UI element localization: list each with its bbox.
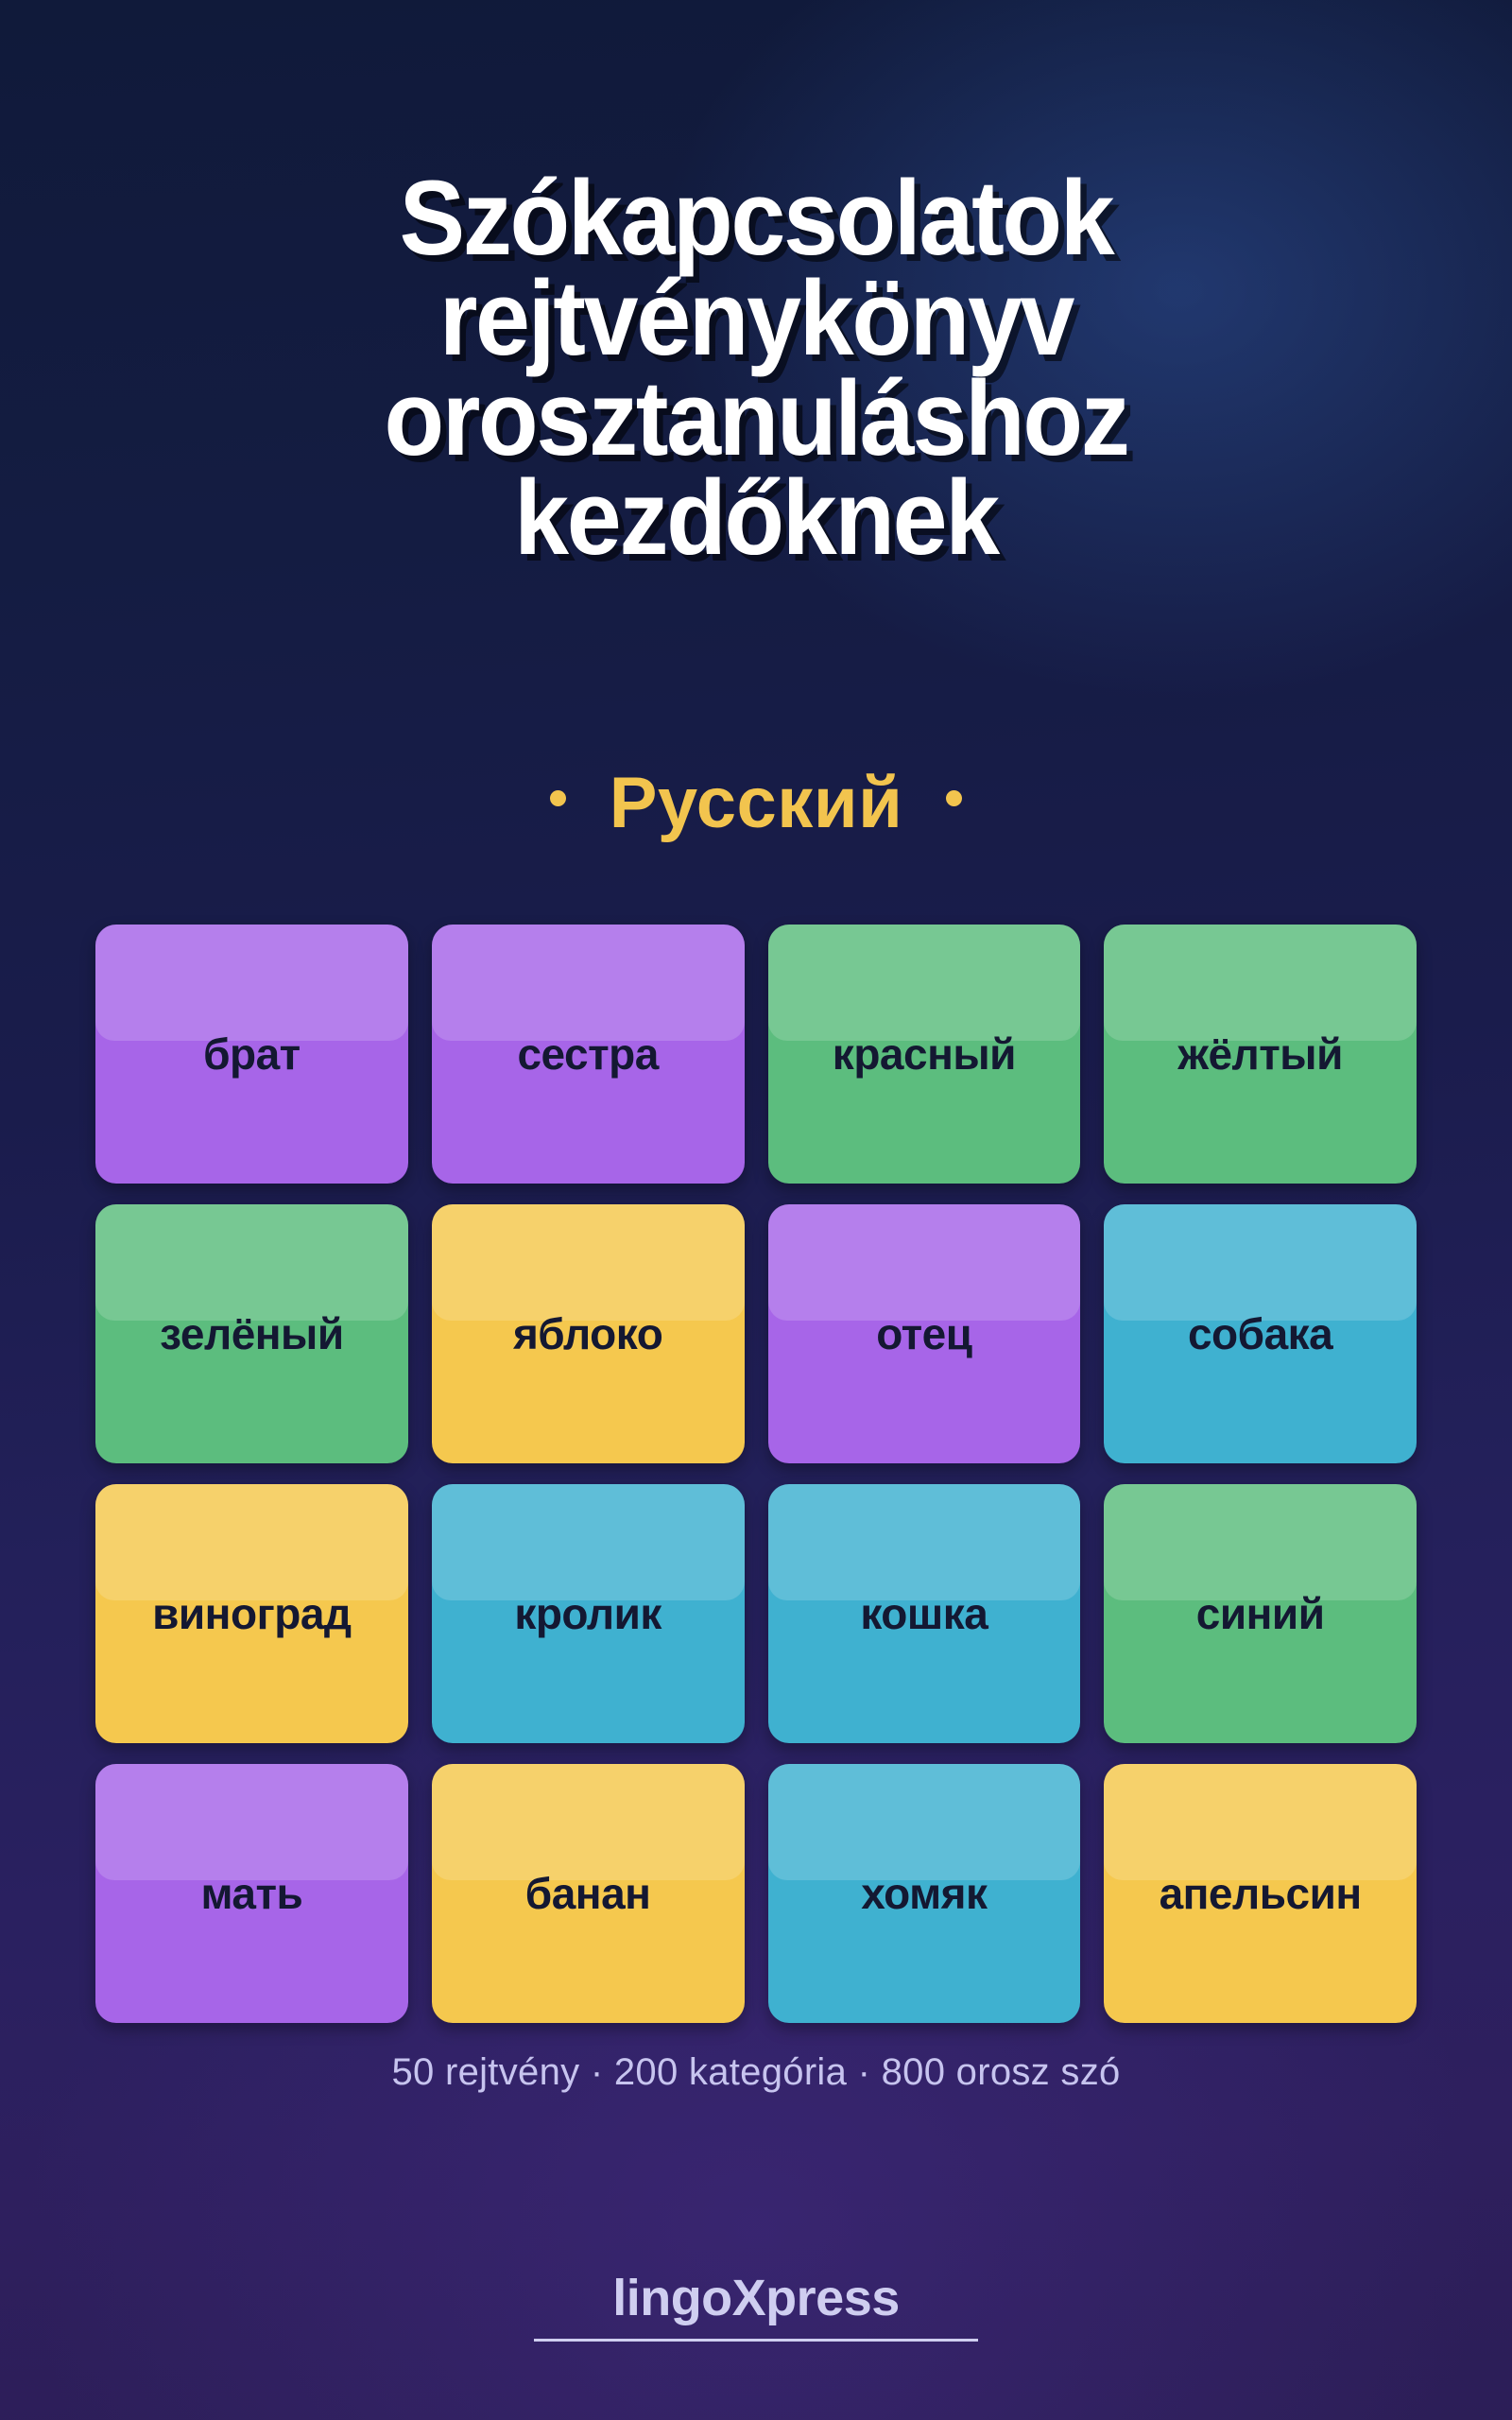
stats-line: 50 rejtvény · 200 kategória · 800 orosz … (0, 2051, 1512, 2094)
word-tile-label: банан (432, 1764, 745, 2023)
word-tile[interactable]: отец (768, 1204, 1081, 1463)
word-tile-label: зелёный (95, 1204, 408, 1463)
subtitle-label: Русский (610, 768, 903, 839)
word-tile-label: синий (1104, 1484, 1417, 1743)
word-tile[interactable]: апельсин (1104, 1764, 1417, 2023)
word-tile[interactable]: собака (1104, 1204, 1417, 1463)
word-tile-label: собака (1104, 1204, 1417, 1463)
word-tile-grid: братсестракрасныйжёлтыйзелёныйяблокоотец… (95, 925, 1417, 2023)
word-tile[interactable]: синий (1104, 1484, 1417, 1743)
title-line-1: Szókapcsolatok (123, 168, 1388, 268)
word-tile[interactable]: сестра (432, 925, 745, 1184)
word-tile-label: виноград (95, 1484, 408, 1743)
word-tile-label: отец (768, 1204, 1081, 1463)
page-title: Szókapcsolatok rejtvénykönyv orosztanulá… (76, 168, 1436, 568)
word-tile[interactable]: виноград (95, 1484, 408, 1743)
title-line-3: orosztanuláshoz (123, 369, 1388, 469)
word-tile[interactable]: хомяк (768, 1764, 1081, 2023)
dot-icon-left (550, 790, 566, 806)
word-tile[interactable]: жёлтый (1104, 925, 1417, 1184)
brand-divider (534, 2339, 978, 2342)
word-tile-label: хомяк (768, 1764, 1081, 2023)
word-tile-label: сестра (432, 925, 745, 1184)
word-tile-label: мать (95, 1764, 408, 2023)
word-tile[interactable]: яблоко (432, 1204, 745, 1463)
brand-block: lingoXpress (0, 2269, 1512, 2342)
word-tile[interactable]: мать (95, 1764, 408, 2023)
title-line-4: kezdőknek (123, 468, 1388, 568)
word-tile-label: кошка (768, 1484, 1081, 1743)
word-tile-label: кролик (432, 1484, 745, 1743)
word-tile-label: брат (95, 925, 408, 1184)
word-tile[interactable]: банан (432, 1764, 745, 2023)
dot-icon-right (946, 790, 962, 806)
word-tile-label: жёлтый (1104, 925, 1417, 1184)
word-tile-label: апельсин (1104, 1764, 1417, 2023)
word-tile[interactable]: кролик (432, 1484, 745, 1743)
word-tile[interactable]: красный (768, 925, 1081, 1184)
brand-name: lingoXpress (612, 2269, 900, 2327)
title-line-2: rejtvénykönyv (123, 268, 1388, 369)
word-tile[interactable]: зелёный (95, 1204, 408, 1463)
word-tile[interactable]: кошка (768, 1484, 1081, 1743)
language-subtitle: Русский (0, 768, 1512, 839)
book-cover: Szókapcsolatok rejtvénykönyv orosztanulá… (0, 0, 1512, 2420)
word-tile-label: красный (768, 925, 1081, 1184)
word-tile-label: яблоко (432, 1204, 745, 1463)
word-tile[interactable]: брат (95, 925, 408, 1184)
